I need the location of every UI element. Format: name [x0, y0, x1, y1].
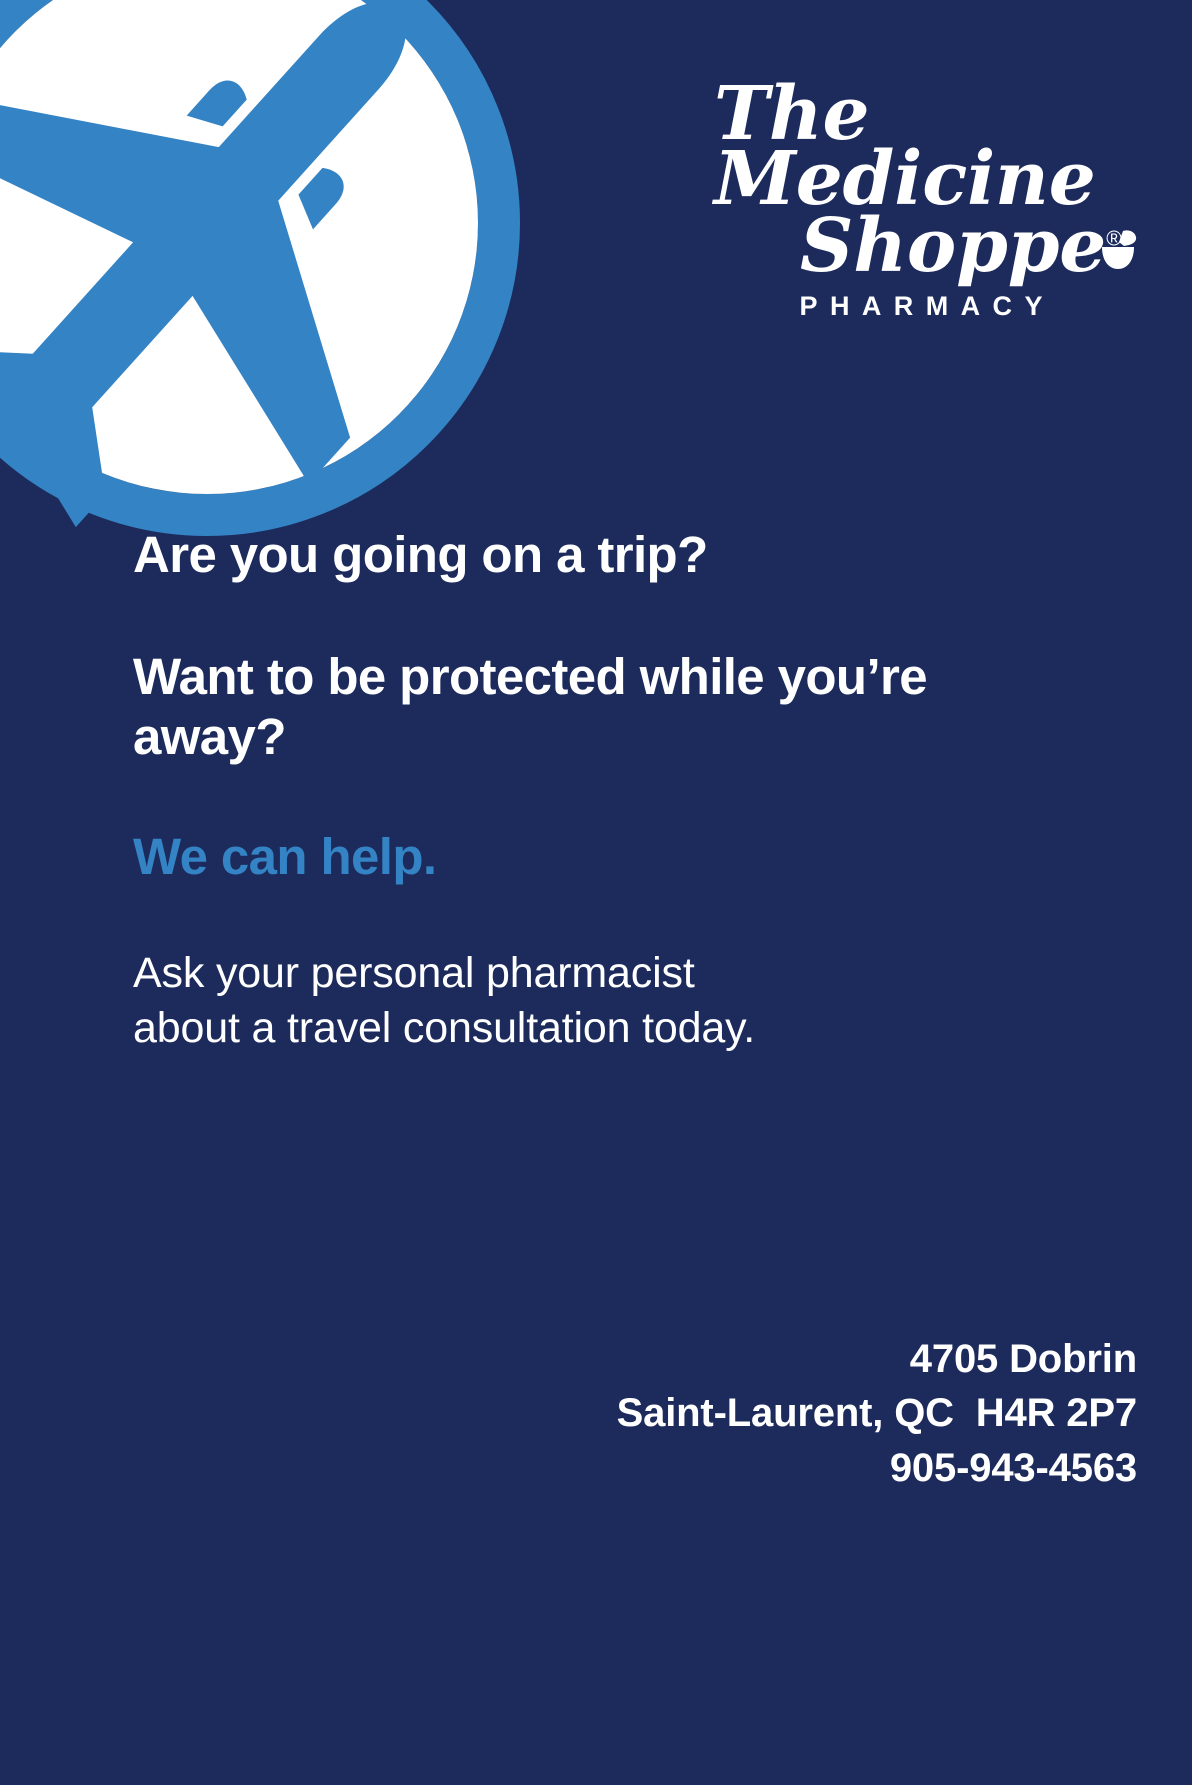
tagline-we-can-help: We can help. — [133, 828, 1063, 887]
body-copy-line2: about a travel consultation today. — [133, 1001, 1063, 1056]
headline-protected: Want to be protected while you’re away? — [133, 647, 1063, 767]
headline-trip: Are you going on a trip? — [133, 525, 1063, 585]
address-street: 4705 Dobrin — [617, 1332, 1137, 1386]
mortar-and-pestle-icon — [1096, 229, 1140, 275]
store-address: 4705 Dobrin Saint-Laurent, QC H4R 2P7 90… — [617, 1332, 1137, 1495]
airplane-badge — [0, 0, 522, 538]
logo-line-shoppe: Shoppe® — [706, 214, 1136, 279]
address-city-province-postal: Saint-Laurent, QC H4R 2P7 — [617, 1386, 1137, 1440]
address-phone[interactable]: 905-943-4563 — [617, 1441, 1137, 1495]
headline-protected-line1: Want to be protected — [133, 648, 626, 705]
logo-pharmacy-text: PHARMACY — [706, 291, 1136, 322]
logo-shoppe-text: Shoppe — [800, 203, 1106, 289]
body-copy: Ask your personal pharmacist about a tra… — [133, 946, 1063, 1056]
logo-line-the-medicine: The Medicine — [706, 82, 1136, 212]
logo-wordmark: The Medicine Shoppe® — [706, 82, 1136, 279]
poster-canvas: The Medicine Shoppe® PHARMACY Are you go… — [0, 0, 1192, 1785]
body-copy-line1: Ask your personal pharmacist — [133, 946, 1063, 1001]
airplane-icon — [0, 0, 522, 538]
message-block: Are you going on a trip? Want to be prot… — [133, 525, 1063, 1056]
brand-logo: The Medicine Shoppe® PHARMACY — [706, 82, 1136, 322]
